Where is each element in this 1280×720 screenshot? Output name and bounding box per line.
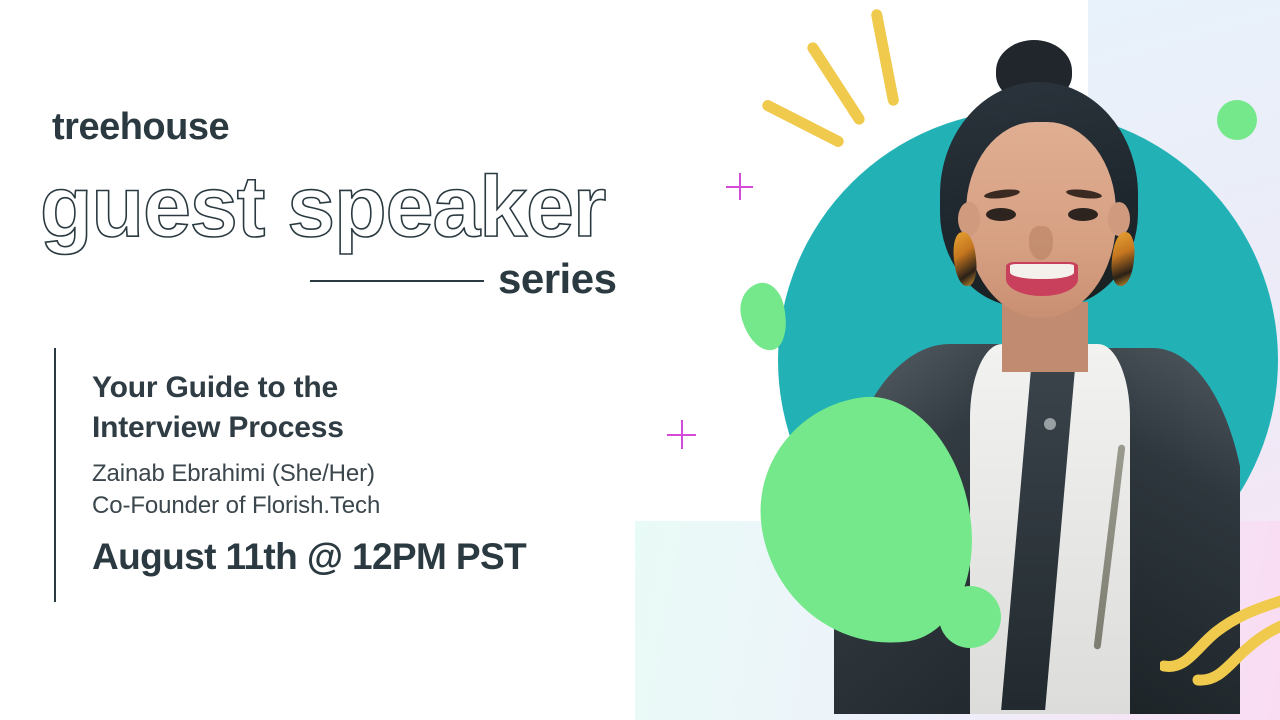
talk-title: Your Guide to the Interview Process: [92, 368, 344, 447]
ear-left: [958, 202, 980, 236]
series-divider-rule: [310, 280, 484, 282]
green-circle-shape-bottom: [939, 586, 1001, 648]
series-label: series: [498, 255, 616, 303]
smiling-mouth: [1006, 262, 1078, 296]
speaker-name: Zainab Ebrahimi (She/Her): [92, 460, 375, 488]
jacket-stud: [1044, 418, 1056, 430]
eye-right: [1068, 208, 1098, 221]
eye-left: [986, 208, 1016, 221]
magenta-plus-icon-2: [667, 420, 696, 449]
event-datetime: August 11th @ 12PM PST: [92, 536, 526, 578]
hero-headline: guest speaker: [40, 162, 605, 252]
promo-slide: treehouse guest speaker series Your Guid…: [0, 0, 1280, 720]
brand-name: treehouse: [52, 106, 229, 149]
talk-title-line-2: Interview Process: [92, 408, 344, 448]
speaker-role: Co-Founder of Florish.Tech: [92, 492, 380, 520]
teeth: [1010, 264, 1074, 279]
nose: [1029, 226, 1053, 260]
magenta-plus-icon-1: [726, 173, 753, 200]
talk-title-line-1: Your Guide to the: [92, 368, 344, 408]
details-accent-rule: [54, 348, 56, 602]
yellow-wave-icon: [1160, 570, 1280, 690]
ear-right: [1108, 202, 1130, 236]
